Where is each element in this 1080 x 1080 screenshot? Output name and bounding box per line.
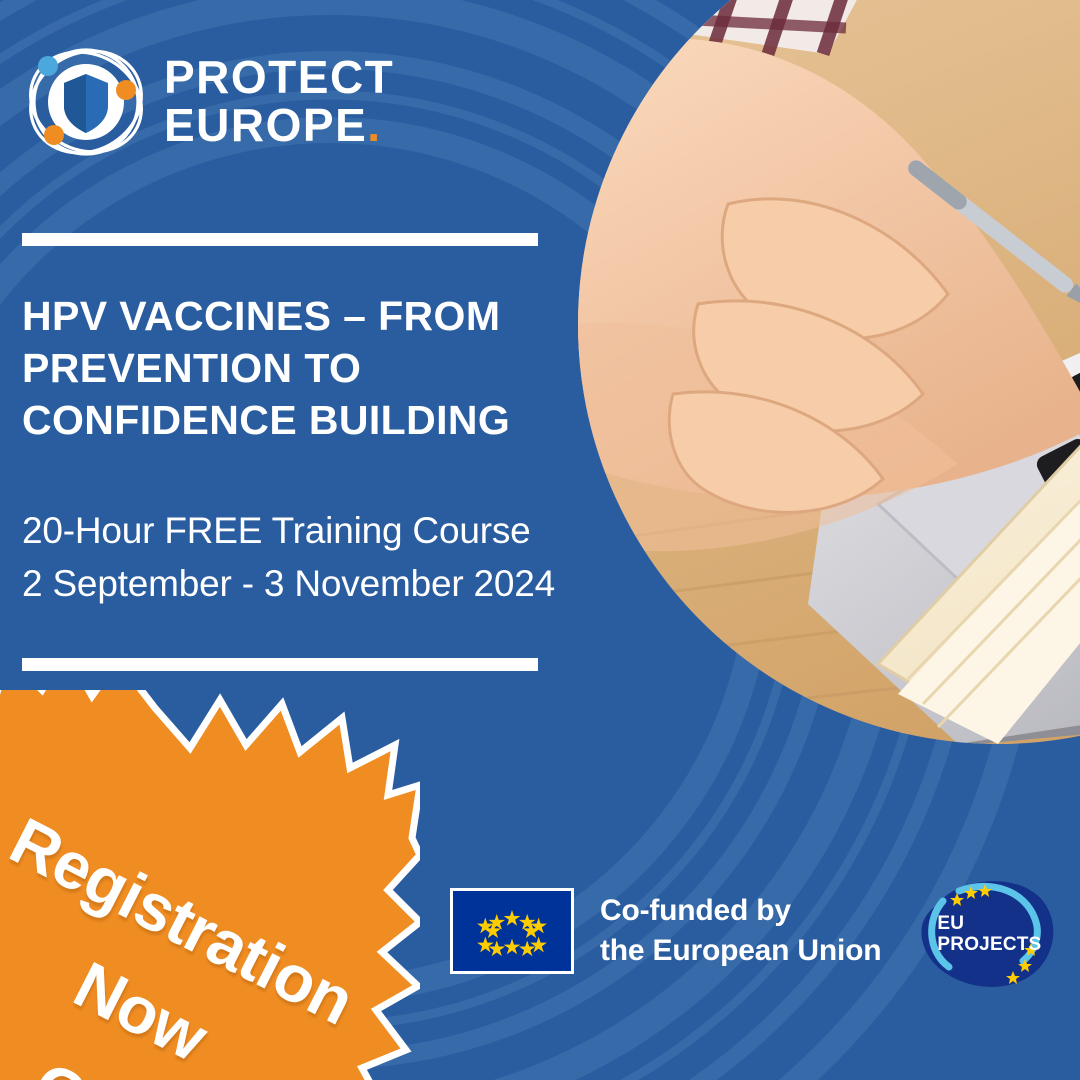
divider-top (22, 233, 538, 246)
funding-text-line1: Co-funded by (600, 891, 881, 931)
funding-text-line2: the European Union (600, 931, 881, 971)
brand-wordmark-line2: EUROPE. (164, 102, 394, 150)
page-title-line2: PREVENTION TO (22, 342, 552, 394)
course-duration: 20-Hour FREE Training Course (22, 505, 642, 558)
shield-orbit-logo-icon (22, 38, 150, 166)
eu-projects-label: EU PROJECTS (937, 913, 1041, 956)
course-photo (578, 0, 1080, 744)
course-photo-art (578, 0, 1080, 744)
page-title-line1: HPV VACCINES – FROM (22, 290, 552, 342)
registration-badge[interactable]: Registration Now Open! (0, 690, 420, 1080)
starburst-shape-icon (0, 690, 420, 1080)
page-title-line3: CONFIDENCE BUILDING (22, 394, 552, 446)
brand-wordmark-line1: PROTECT (164, 54, 394, 102)
divider-bottom (22, 658, 538, 671)
page-title: HPV VACCINES – FROM PREVENTION TO CONFID… (22, 290, 552, 446)
european-union-flag-icon (450, 888, 574, 974)
course-details: 20-Hour FREE Training Course 2 September… (22, 505, 642, 610)
funding-text: Co-funded by the European Union (600, 891, 881, 970)
funding-acknowledgement: Co-funded by the European Union EU (450, 875, 1061, 987)
eu-projects-label-line2: PROJECTS (937, 934, 1041, 955)
brand-logo: PROTECT EUROPE. (22, 38, 394, 166)
brand-wordmark: PROTECT EUROPE. (164, 54, 394, 150)
eu-projects-badge: EU PROJECTS (913, 875, 1061, 987)
promotional-poster: PROTECT EUROPE. (0, 0, 1080, 1080)
eu-projects-label-line1: EU (937, 913, 1041, 934)
brand-accent-dot: . (367, 99, 381, 151)
course-dates: 2 September - 3 November 2024 (22, 558, 642, 611)
